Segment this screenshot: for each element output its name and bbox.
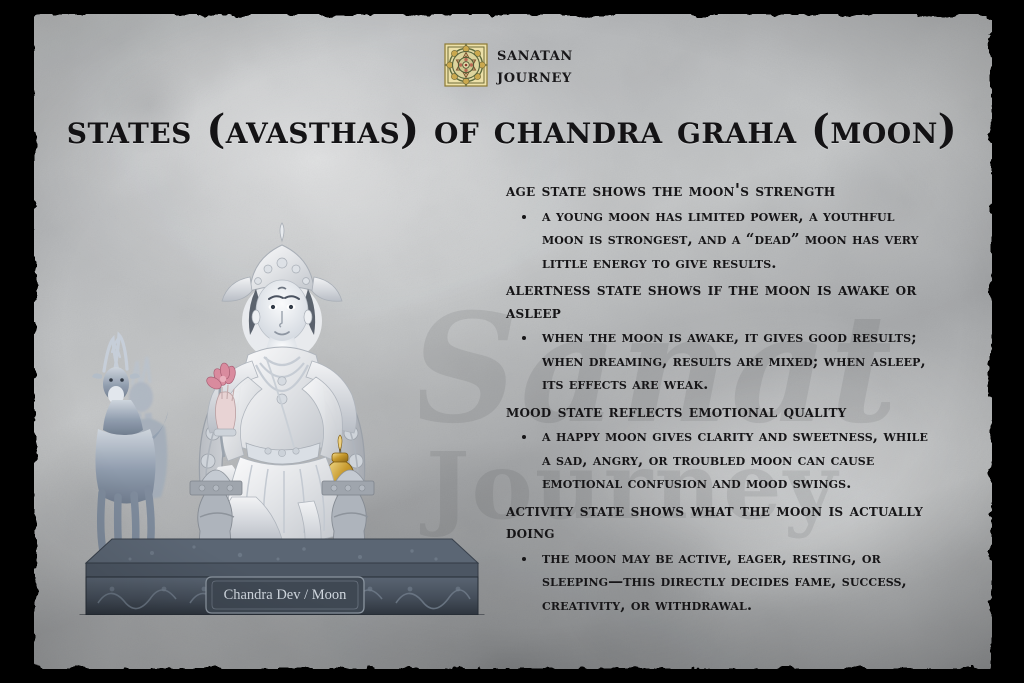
- brand-line-1: Sanatan: [497, 45, 573, 64]
- bullet-item: When the Moon is awake, it gives good re…: [506, 326, 936, 396]
- section-bullets-mood-state: A happy Moon gives clarity and sweetness…: [506, 425, 936, 495]
- section-heading-age-state: Age State Shows the Moon's Strength: [506, 180, 936, 203]
- bullet-dot-icon: [522, 435, 526, 439]
- section-heading-activity-state: Activity State Shows What the Moon Is Ac…: [506, 500, 936, 546]
- statue-name-plaque: Chandra Dev / Moon: [206, 577, 364, 613]
- sri-yantra-mandala-icon: [444, 43, 488, 87]
- section-heading-alertness-state: Alertness State Shows If the Moon Is Awa…: [506, 279, 936, 325]
- bullet-item: A happy Moon gives clarity and sweetness…: [506, 425, 936, 495]
- bullet-text: When the Moon is awake, it gives good re…: [542, 328, 926, 393]
- brand-wordmark: Sanatan Journey: [497, 45, 573, 86]
- bullet-dot-icon: [522, 215, 526, 219]
- bullet-dot-icon: [522, 336, 526, 340]
- content-body: Age State Shows the Moon's Strength A yo…: [506, 180, 936, 621]
- section-bullets-alertness-state: When the Moon is awake, it gives good re…: [506, 326, 936, 396]
- chandra-dev-statue-image: Chandra Dev / Moon: [72, 185, 492, 615]
- bullet-item: A young Moon has limited power, a youthf…: [506, 205, 936, 275]
- page-title: States (Avasthas) of Chandra Graha (Moon…: [0, 106, 1024, 153]
- section-bullets-activity-state: The Moon may be active, eager, resting, …: [506, 547, 936, 617]
- plaque-label: Chandra Dev / Moon: [224, 587, 348, 603]
- bullet-text: A young Moon has limited power, a youthf…: [542, 207, 919, 272]
- stone-pedestal: Chandra Dev / Moon: [80, 537, 484, 615]
- brand-line-2: Journey: [497, 67, 573, 86]
- section-heading-mood-state: Mood State Reflects Emotional Quality: [506, 401, 936, 424]
- bullet-item: The Moon may be active, eager, resting, …: [506, 547, 936, 617]
- bullet-text: The Moon may be active, eager, resting, …: [542, 549, 907, 614]
- bullet-text: A happy Moon gives clarity and sweetness…: [542, 427, 928, 492]
- deer-figures: [92, 335, 168, 561]
- section-bullets-age-state: A young Moon has limited power, a youthf…: [506, 205, 936, 275]
- bullet-dot-icon: [522, 557, 526, 561]
- brand-logo: Sanatan Journey: [444, 36, 604, 94]
